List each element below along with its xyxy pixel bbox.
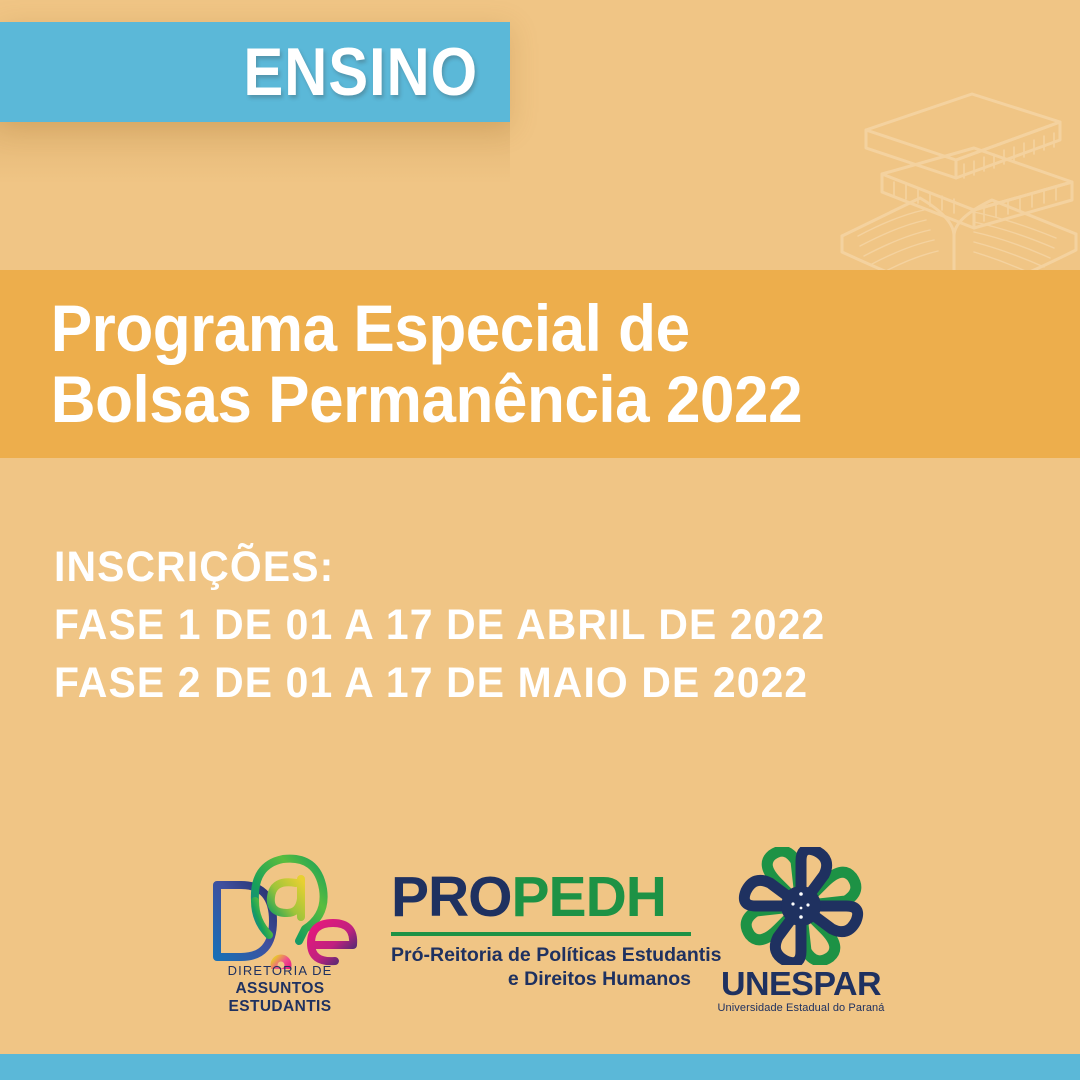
propedh-word-part-1: PRO bbox=[391, 865, 512, 929]
registration-phase-2: FASE 2 DE 01 A 17 DE MAIO DE 2022 bbox=[54, 654, 966, 712]
propedh-subtitle-line-2: e Direitos Humanos bbox=[391, 967, 691, 991]
propedh-subtitle-line-1: Pró-Reitoria de Políticas Estudantis bbox=[391, 943, 691, 967]
banner-shadow bbox=[0, 122, 510, 184]
stacked-books-icon bbox=[824, 86, 1080, 296]
title-band: Programa Especial de Bolsas Permanência … bbox=[0, 270, 1080, 458]
dae-lightbulb-icon bbox=[195, 845, 365, 969]
category-banner: ENSINO bbox=[0, 22, 510, 122]
logo-row: DIRETORIA DE ASSUNTOS ESTUDANTIS PROPEDH… bbox=[0, 846, 1080, 1014]
registration-heading: INSCRIÇÕES: bbox=[54, 538, 966, 596]
title-line-2: Bolsas Permanência 2022 bbox=[0, 364, 1015, 435]
unespar-subtitle: Universidade Estadual do Paraná bbox=[717, 1002, 885, 1014]
title-line-1: Programa Especial de bbox=[0, 293, 1015, 364]
unespar-pinwheel-icon bbox=[738, 847, 864, 965]
unespar-wordmark: UNESPAR bbox=[714, 967, 887, 1000]
dae-caption-line-1: DIRETORIA DE bbox=[195, 963, 365, 978]
logo-unespar: UNESPAR Universidade Estadual do Paraná bbox=[717, 847, 885, 1014]
registration-phase-1: FASE 1 DE 01 A 17 DE ABRIL DE 2022 bbox=[54, 596, 966, 654]
bottom-accent-bar bbox=[0, 1054, 1080, 1080]
logo-propedh: PROPEDH Pró-Reitoria de Políticas Estuda… bbox=[391, 869, 691, 992]
category-label: ENSINO bbox=[244, 38, 510, 106]
propedh-word-part-2: PEDH bbox=[512, 865, 666, 929]
poster-canvas: ENSINO Programa Especial de Bolsas Perma… bbox=[0, 0, 1080, 1080]
propedh-divider bbox=[391, 932, 691, 936]
registration-block: INSCRIÇÕES: FASE 1 DE 01 A 17 DE ABRIL D… bbox=[54, 538, 1014, 712]
propedh-subtitle: Pró-Reitoria de Políticas Estudantis e D… bbox=[391, 943, 691, 992]
dae-caption-line-2: ASSUNTOS ESTUDANTIS bbox=[195, 980, 365, 1016]
logo-dae: DIRETORIA DE ASSUNTOS ESTUDANTIS bbox=[195, 845, 365, 1016]
propedh-wordmark: PROPEDH bbox=[391, 869, 691, 926]
